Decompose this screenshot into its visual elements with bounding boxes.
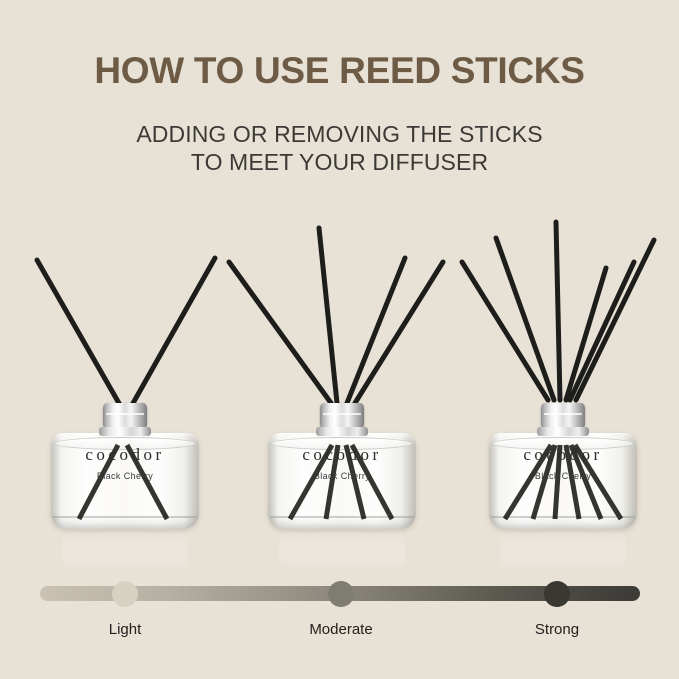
scale-label-light: Light [35,621,215,638]
diffuser-strong: cocodor Black Cherry [448,0,678,580]
bottle-reflection-light [62,528,188,570]
bottle-glass-strong [489,433,637,529]
submerged-sticks-strong [489,433,637,529]
diffuser-bottle-light: cocodor Black Cherry [51,403,199,533]
scale-knob-moderate[interactable] [328,581,354,607]
scale-label-moderate: Moderate [251,621,431,638]
bottle-reflection-moderate [279,528,405,570]
bottle-collar-light [99,427,151,436]
bottle-reflection-strong [500,528,626,570]
intensity-scale-bar[interactable] [40,586,640,601]
scale-knob-strong[interactable] [544,581,570,607]
diffuser-bottle-strong: cocodor Black Cherry [489,403,637,533]
submerged-sticks-moderate [268,433,416,529]
diffuser-moderate: cocodor Black Cherry [227,0,457,580]
reed-sticks-strong [448,0,678,440]
bottle-cap-light [103,403,147,429]
reed-diffuser-infographic: HOW TO USE REED STICKS ADDING OR REMOVIN… [0,0,679,679]
diffuser-bottle-moderate: cocodor Black Cherry [268,403,416,533]
bottle-cap-moderate [320,403,364,429]
scale-label-strong: Strong [467,621,647,638]
bottle-glass-moderate [268,433,416,529]
reed-sticks-moderate [227,0,457,440]
scale-knob-light[interactable] [112,581,138,607]
bottle-cap-strong [541,403,585,429]
bottle-collar-strong [537,427,589,436]
diffuser-light: cocodor Black Cherry [10,0,240,580]
bottle-glass-light [51,433,199,529]
bottle-collar-moderate [316,427,368,436]
submerged-sticks-light [51,433,199,529]
reed-sticks-light [10,0,240,440]
